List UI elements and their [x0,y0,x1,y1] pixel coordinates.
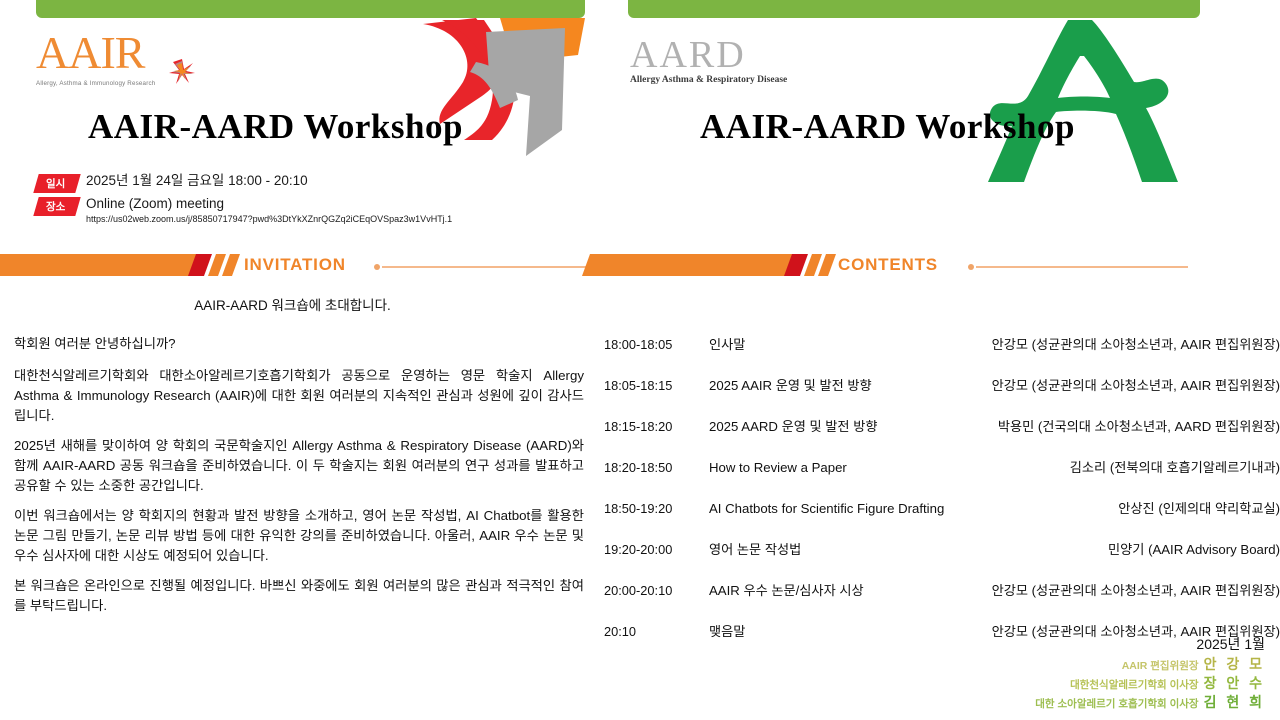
poster-page: AAIR Allergy, Asthma & Immunology Resear… [0,0,1280,720]
aair-logo: AAIR Allergy, Asthma & Immunology Resear… [36,30,206,87]
schedule-speaker: 안강모 (성균관의대 소아청소년과, AAIR 편집위원장) [745,621,1280,640]
schedule-row: 20:00-20:10 AAIR 우수 논문/심사자 시상 안강모 (성균관의대… [604,580,1280,621]
signature-title: 대한 소아알레르기 호흡기학회 이사장 [1035,698,1198,710]
invitation-banner: INVITATION [0,250,600,280]
green-bar-right [628,0,1200,18]
schedule-speaker: 안강모 (성균관의대 소아청소년과, AAIR 편집위원장) [864,580,1280,599]
schedule-row: 18:05-18:15 2025 AAIR 운영 및 발전 방향 안강모 (성균… [604,375,1280,416]
schedule-topic: 2025 AARD 운영 및 발전 방향 [709,416,878,435]
schedule-topic: 2025 AAIR 운영 및 발전 방향 [709,375,872,394]
schedule-time: 18:20-18:50 [604,460,709,475]
contents-banner: CONTENTS [596,250,1196,280]
schedule-topic: How to Review a Paper [709,460,847,475]
schedule-row: 18:00-18:05 인사말 안강모 (성균관의대 소아청소년과, AAIR … [604,334,1280,375]
schedule-speaker: 박용민 (건국의대 소아청소년과, AARD 편집위원장) [878,416,1280,435]
event-meta: 일시 2025년 1월 24일 금요일 18:00 - 20:10 장소 Onl… [36,173,596,227]
place-value: Online (Zoom) meeting [86,196,452,212]
schedule-time: 18:05-18:15 [604,378,709,393]
banner-rule [976,266,1188,268]
aard-a-mark [960,0,1210,185]
aard-logo-word: AARD [630,36,830,74]
page-title-right: AAIR-AARD Workshop [700,107,1075,147]
schedule-row: 18:20-18:50 How to Review a Paper 김소리 (전… [604,457,1280,498]
page-title-left: AAIR-AARD Workshop [88,107,463,147]
invitation-paragraph: 2025년 새해를 맞이하여 양 학회의 국문학술지인 Allergy Asth… [14,436,584,496]
green-bar-left [36,0,585,18]
asterisk-icon [167,57,197,87]
invitation-paragraph: 본 워크숍은 온라인으로 진행될 예정입니다. 바쁘신 와중에도 회원 여러분의… [14,576,584,616]
schedule-topic: 맺음말 [709,621,745,640]
schedule-topic: 영어 논문 작성법 [709,539,801,558]
banner-dot [968,264,974,270]
ribbon-decoration-left [380,0,600,190]
invitation-paragraph: 학회원 여러분 안녕하십니까? [14,334,584,354]
signature-name: 김 현 희 [1204,694,1265,710]
signature-block: AAIR 편집위원장안 강 모 대한천식알레르기학회 이사장장 안 수 대한 소… [1035,656,1265,713]
invitation-paragraph: 이번 워크숍에서는 양 학회지의 현황과 발전 방향을 소개하고, 영어 논문 … [14,506,584,566]
schedule-time: 19:20-20:00 [604,542,709,557]
schedule-topic: AI Chatbots for Scientific Figure Drafti… [709,501,944,516]
banner-bar [582,254,800,276]
signature-title: 대한천식알레르기학회 이사장 [1070,679,1199,691]
schedule-row: 19:20-20:00 영어 논문 작성법 민양기 (AAIR Advisory… [604,539,1280,580]
schedule-speaker: 민양기 (AAIR Advisory Board) [801,539,1280,558]
schedule-time: 20:10 [604,624,709,639]
invitation-lead: AAIR-AARD 워크숍에 초대합니다. [0,294,585,314]
contents-banner-label: CONTENTS [838,255,938,275]
schedule-list: 18:00-18:05 인사말 안강모 (성균관의대 소아청소년과, AAIR … [604,334,1280,662]
schedule-speaker: 안강모 (성균관의대 소아청소년과, AAIR 편집위원장) [745,334,1280,353]
banner-dot [374,264,380,270]
signature-name: 장 안 수 [1204,675,1265,691]
schedule-topic: 인사말 [709,334,745,353]
event-date-row: 일시 2025년 1월 24일 금요일 18:00 - 20:10 [36,173,596,193]
schedule-topic: AAIR 우수 논문/심사자 시상 [709,580,864,599]
signature-row: 대한 소아알레르기 호흡기학회 이사장김 현 희 [1035,694,1265,713]
schedule-time: 20:00-20:10 [604,583,709,598]
schedule-speaker: 안상진 (인제의대 약리학교실) [944,498,1280,517]
schedule-speaker: 김소리 (전북의대 호흡기알레르기내과) [847,457,1280,476]
signature-row: 대한천식알레르기학회 이사장장 안 수 [1035,675,1265,694]
aard-logo: AARD Allergy Asthma & Respiratory Diseas… [630,36,830,85]
schedule-time: 18:15-18:20 [604,419,709,434]
aard-logo-tagline: Allergy Asthma & Respiratory Disease [630,75,830,85]
place-badge-label: 장소 [46,199,65,214]
event-place-row: 장소 Online (Zoom) meeting https://us02web… [36,196,596,224]
banner-rule [382,266,598,268]
invitation-paragraph: 대한천식알레르기학회와 대한소아알레르기호흡기학회가 공동으로 운영하는 영문 … [14,366,584,426]
schedule-time: 18:50-19:20 [604,501,709,516]
date-badge-label: 일시 [46,176,65,191]
place-badge: 장소 [33,197,80,216]
banner-bar [0,254,204,276]
schedule-row: 20:10 맺음말 안강모 (성균관의대 소아청소년과, AAIR 편집위원장) [604,621,1280,662]
schedule-speaker: 안강모 (성균관의대 소아청소년과, AAIR 편집위원장) [872,375,1280,394]
invitation-banner-label: INVITATION [244,255,346,275]
schedule-row: 18:15-18:20 2025 AARD 운영 및 발전 방향 박용민 (건국… [604,416,1280,457]
date-badge: 일시 [33,174,80,193]
schedule-row: 18:50-19:20 AI Chatbots for Scientific F… [604,498,1280,539]
zoom-link[interactable]: https://us02web.zoom.us/j/85850717947?pw… [86,214,452,224]
date-value: 2025년 1월 24일 금요일 18:00 - 20:10 [86,173,308,189]
schedule-time: 18:00-18:05 [604,337,709,352]
invitation-body: 학회원 여러분 안녕하십니까? 대한천식알레르기학회와 대한소아알레르기호흡기학… [14,334,584,626]
